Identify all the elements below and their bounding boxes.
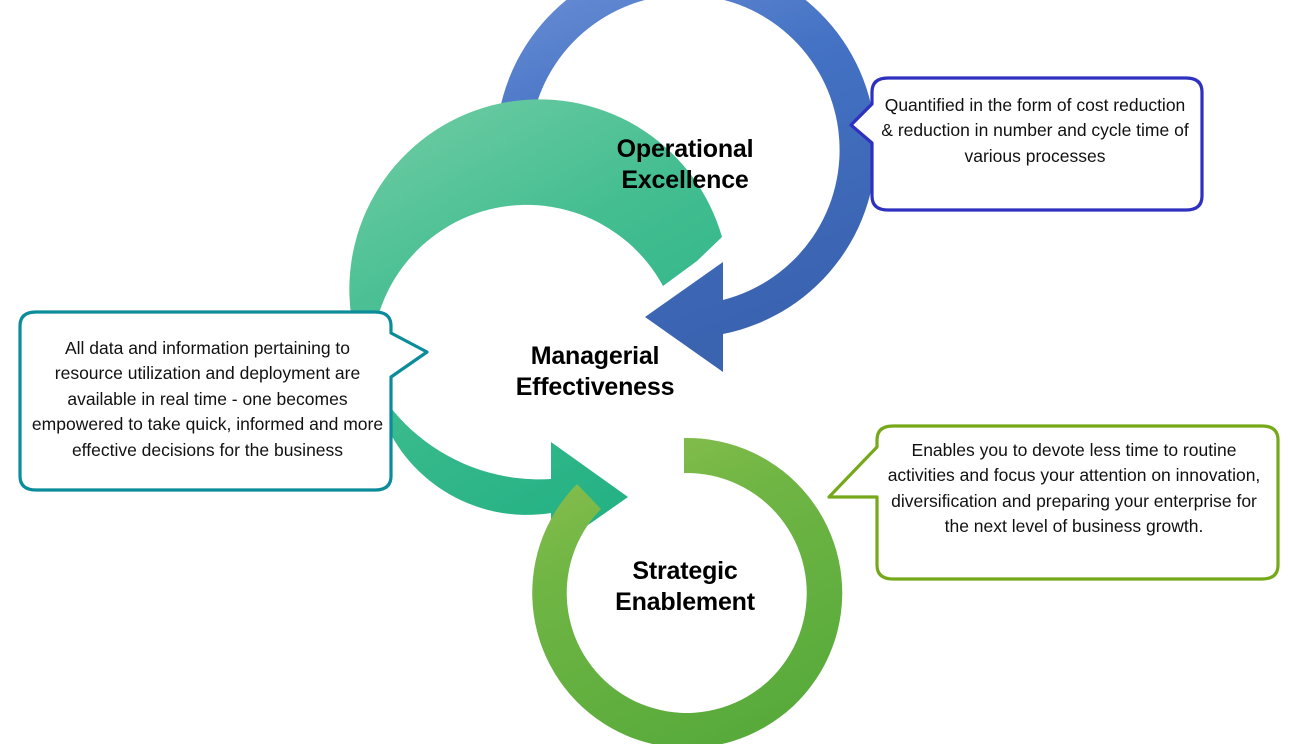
ring-label-strategic-enablement: Strategic Enablement xyxy=(565,556,805,617)
ring-label-managerial-effectiveness: Managerial Effectiveness xyxy=(470,341,720,402)
callout-text-managerial-effectiveness: All data and information pertaining to r… xyxy=(30,336,385,463)
diagram-canvas: Operational Excellence Managerial Effect… xyxy=(0,0,1290,744)
callout-text-strategic-enablement: Enables you to devote less time to routi… xyxy=(884,438,1264,540)
callout-text-operational-excellence: Quantified in the form of cost reduction… xyxy=(880,93,1190,169)
ring-label-operational-excellence: Operational Excellence xyxy=(565,134,805,195)
